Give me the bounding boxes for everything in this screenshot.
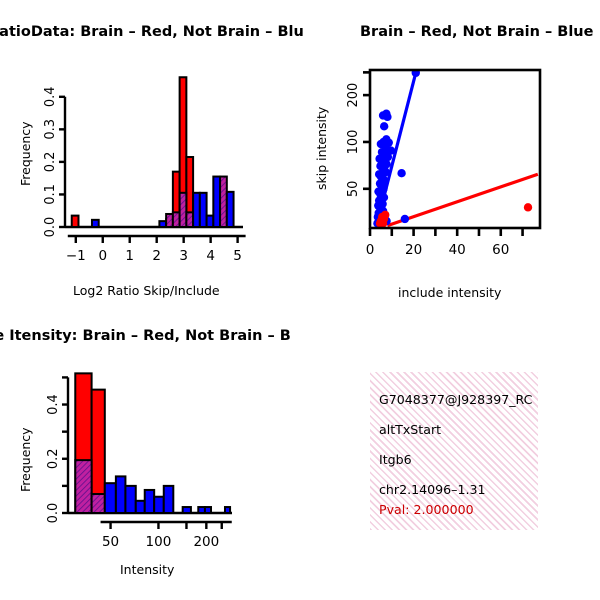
panel3-bar-notbrain <box>116 476 126 513</box>
panel3-bar-overlap <box>92 494 105 513</box>
panel1-bar-notbrain <box>200 193 207 227</box>
panel1-xtick: 4 <box>206 248 215 264</box>
panel1-ytick: 0.4 <box>43 86 58 107</box>
panel-gene-intensity-histogram: ne Itensity: Brain – Red, Not Brain – B … <box>0 300 300 600</box>
panel2-xtick: 20 <box>405 242 422 258</box>
panel3-bar-notbrain <box>205 507 211 513</box>
panel3-bar-notbrain <box>125 486 135 513</box>
panel2-plot-area: 501002000204060 <box>300 0 600 300</box>
panel3-xtick: 100 <box>146 534 172 550</box>
panel2-point-notbrain <box>401 215 409 223</box>
panel1-ytick: 0.3 <box>43 119 58 140</box>
panel1-bar-notbrain <box>213 177 220 227</box>
panel2-point-brain <box>524 203 532 211</box>
panel1-ytick: 0.2 <box>43 152 58 173</box>
panel1-bar-notbrain <box>193 193 200 227</box>
panel3-bar-notbrain <box>105 483 116 513</box>
panel1-bar-overlap <box>180 193 187 227</box>
panel3-ytick: 0.4 <box>46 394 61 415</box>
panel1-bar-overlap <box>166 214 173 227</box>
panel3-xtick: 50 <box>102 534 119 550</box>
panel1-bar-notbrain <box>227 192 234 227</box>
panel3-bar-notbrain <box>136 501 145 513</box>
panel1-bar-notbrain <box>159 221 166 227</box>
note-event-type: altTxStart <box>379 422 441 437</box>
panel1-bar-notbrain <box>92 220 99 227</box>
panel3-ytick: 0.0 <box>46 503 61 524</box>
panel2-regression-brain <box>387 174 537 225</box>
panel3-bar-notbrain <box>183 507 191 513</box>
panel1-xtick: 1 <box>125 248 134 264</box>
panel-ratio-histogram: RatioData: Brain – Red, Not Brain – Blu … <box>0 0 300 300</box>
panel3-bar-notbrain <box>164 486 174 513</box>
panel3-ytick: 0.2 <box>46 448 61 469</box>
panel1-bar-overlap <box>186 212 193 227</box>
panel1-xtick: 5 <box>233 248 242 264</box>
panel2-point-notbrain <box>383 113 391 121</box>
panel3-bar-notbrain <box>154 497 164 513</box>
annotation-info-box: G7048377@J928397_RC altTxStart Itgb6 chr… <box>370 372 538 530</box>
note-gene-symbol: Itgb6 <box>379 452 412 467</box>
figure-canvas: RatioData: Brain – Red, Not Brain – Blu … <box>0 0 600 600</box>
panel2-xtick: 0 <box>366 242 375 258</box>
panel2-xtick: 40 <box>449 242 466 258</box>
panel3-plot-area: 0.00.20.450100200 <box>0 300 300 600</box>
panel1-xtick: −1 <box>66 248 86 264</box>
panel2-ytick: 200 <box>346 83 361 108</box>
panel1-bar-overlap <box>220 177 227 227</box>
panel1-ytick: 0.1 <box>43 184 58 205</box>
panel3-bar-notbrain <box>145 490 154 513</box>
note-locus: chr2.14096–1.31 <box>379 482 486 497</box>
panel3-xtick: 200 <box>193 534 219 550</box>
panel1-bar-notbrain <box>207 216 214 227</box>
panel2-ytick: 50 <box>346 181 361 198</box>
panel1-bar-overlap <box>173 212 180 227</box>
panel1-plot-area: 0.00.10.20.30.4−1012345 <box>0 0 300 300</box>
panel3-bar-notbrain <box>225 507 230 513</box>
panel1-xtick: 3 <box>179 248 188 264</box>
panel-intensity-scatter: Brain – Red, Not Brain – Blue skip inten… <box>300 0 600 300</box>
panel1-xtick: 0 <box>98 248 107 264</box>
panel2-ytick: 100 <box>346 130 361 155</box>
panel3-bar-overlap <box>75 460 91 513</box>
panel1-ytick: 0.0 <box>43 217 58 238</box>
panel2-point-brain <box>376 219 384 227</box>
panel2-xtick: 60 <box>492 242 509 258</box>
panel1-xtick: 2 <box>152 248 161 264</box>
note-probe-id: G7048377@J928397_RC <box>379 392 532 407</box>
panel2-point-notbrain <box>397 169 405 177</box>
panel1-bar-brain <box>72 216 79 227</box>
note-pvalue: Pval: 2.000000 <box>379 502 474 517</box>
panel2-point-notbrain <box>380 122 388 130</box>
